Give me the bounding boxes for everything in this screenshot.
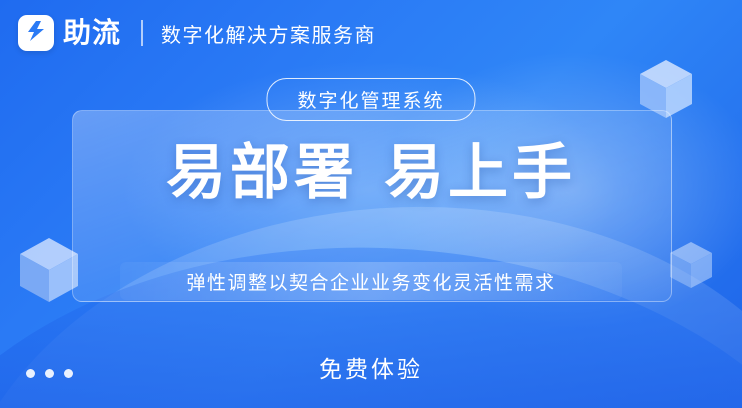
promo-banner: 助流 数字化解决方案服务商 数字化管理系统 易部署易上手 弹性调整以契合企业业务… xyxy=(0,0,742,408)
hero-headline: 易部署易上手 xyxy=(0,143,742,203)
cube-decoration-icon xyxy=(18,236,80,304)
carousel-dot[interactable] xyxy=(45,369,54,378)
headline-part-2: 易上手 xyxy=(384,139,576,206)
lightning-bolt-icon xyxy=(25,20,47,47)
header-tagline: 数字化解决方案服务商 xyxy=(161,19,376,48)
hero-subtitle-bar: 弹性调整以契合企业业务变化灵活性需求 xyxy=(120,262,622,300)
logo-text: 助流 xyxy=(63,19,121,47)
headline-part-1: 易部署 xyxy=(166,139,358,206)
carousel-dot[interactable] xyxy=(64,369,73,378)
hero-subtitle: 弹性调整以契合企业业务变化灵活性需求 xyxy=(186,268,555,295)
system-pill-label: 数字化管理系统 xyxy=(266,78,475,121)
carousel-dot[interactable] xyxy=(26,369,35,378)
free-trial-button[interactable]: 免费体验 xyxy=(0,350,742,384)
carousel-dots[interactable] xyxy=(26,369,73,378)
banner-header: 助流 数字化解决方案服务商 xyxy=(0,0,376,66)
logo-mark xyxy=(18,15,54,51)
cube-decoration-icon xyxy=(668,240,714,290)
header-divider xyxy=(141,20,143,46)
